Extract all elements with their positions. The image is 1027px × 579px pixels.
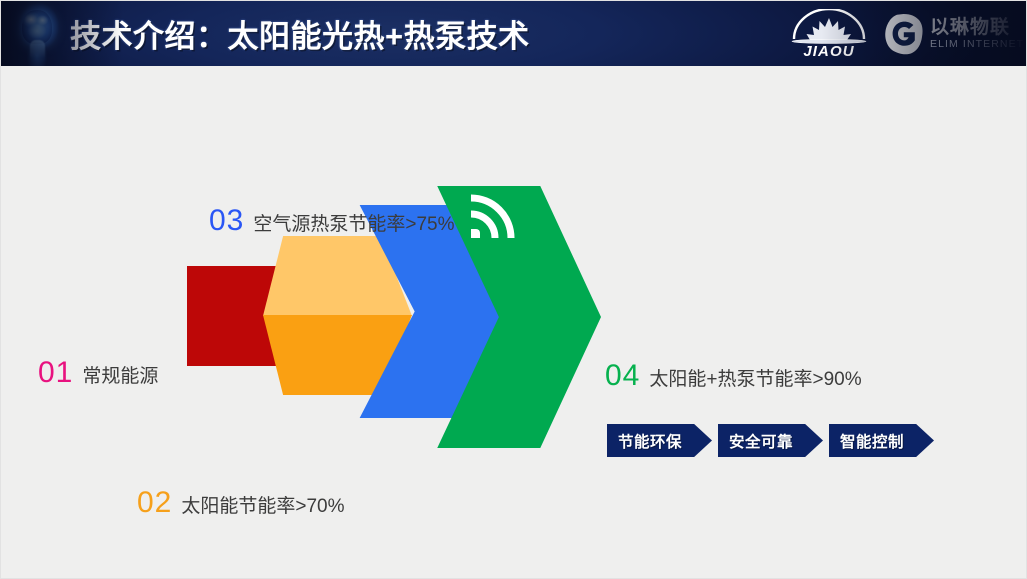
- step-label-01: 01 常规能源: [38, 356, 158, 390]
- feature-tag-energy-saving[interactable]: 节能环保: [607, 424, 712, 457]
- feature-tag-label: 节能环保: [618, 430, 682, 452]
- sunrise-arch-icon: [792, 9, 866, 44]
- chevron-process-diagram: 01 常规能源 02 太阳能节能率>70% 03 空气源热泵节能率>75% 04…: [0, 66, 1027, 579]
- step-text-04: 太阳能+热泵节能率>90%: [649, 364, 861, 391]
- elim-logo-en: ELIM INTERNET: [930, 38, 1024, 51]
- jiaou-logo: JIAOU: [786, 9, 872, 59]
- feature-tag-label: 安全可靠: [729, 430, 793, 452]
- step-text-02: 太阳能节能率>70%: [181, 491, 344, 518]
- fist-glow-layer: [6, 0, 68, 66]
- step-text-01: 常规能源: [82, 361, 158, 388]
- feature-tag-smart-control[interactable]: 智能控制: [829, 424, 934, 457]
- jiaou-logo-text: JIAOU: [803, 43, 854, 59]
- page-title: 技术介绍：太阳能光热+热泵技术: [70, 0, 530, 66]
- fist-shape-layer: [22, 10, 52, 44]
- glowing-fist-icon: [6, 0, 68, 66]
- elim-logo-cn: 以琳物联: [930, 18, 1024, 38]
- step-number-02: 02: [137, 486, 172, 520]
- wifi-signal-icon: [463, 192, 519, 244]
- feature-tag-list: 节能环保 安全可靠 智能控制: [607, 424, 934, 457]
- slide-header: 技术介绍：太阳能光热+热泵技术 JIAOU 以琳物联 ELIM IN: [0, 0, 1027, 66]
- feature-tag-safe-reliable[interactable]: 安全可靠: [718, 424, 823, 457]
- slide-canvas: 技术介绍：太阳能光热+热泵技术 JIAOU 以琳物联 ELIM IN: [0, 0, 1027, 579]
- elim-logo-text: 以琳物联 ELIM INTERNET: [930, 18, 1024, 51]
- step-label-02: 02 太阳能节能率>70%: [137, 486, 345, 520]
- step-label-04: 04 太阳能+热泵节能率>90%: [605, 359, 862, 393]
- feature-tag-label: 智能控制: [840, 430, 904, 452]
- step-number-04: 04: [605, 359, 640, 393]
- step-label-03: 03 空气源热泵节能率>75%: [209, 204, 455, 238]
- fist-wrist-layer: [30, 40, 45, 64]
- elim-logo: 以琳物联 ELIM INTERNET: [884, 10, 1016, 58]
- step-text-03: 空气源热泵节能率>75%: [253, 209, 454, 236]
- step-number-01: 01: [38, 356, 73, 390]
- step-number-03: 03: [209, 204, 244, 238]
- g-letter-mark-icon: [884, 13, 924, 55]
